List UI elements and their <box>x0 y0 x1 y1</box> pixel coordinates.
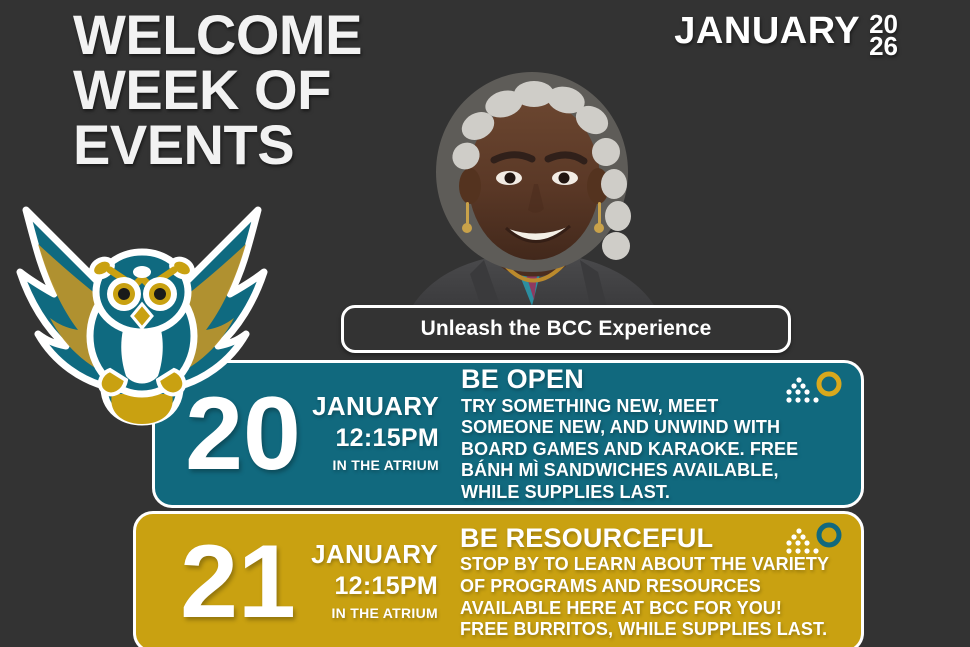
event-day-number: 21 <box>136 514 302 647</box>
event-desc-line: OF PROGRAMS AND RESOURCES <box>460 576 847 598</box>
event-month: JANUARY <box>312 392 439 422</box>
header-year: 20 26 <box>869 12 898 58</box>
header-month: JANUARY <box>674 12 860 50</box>
event-location: IN THE ATRIUM <box>332 455 439 476</box>
bcc-owl-mascot-logo <box>2 186 282 431</box>
banner-text: Unleash the BCC Experience <box>421 317 712 341</box>
event-desc-line: SOMEONE NEW, AND UNWIND WITH <box>461 417 847 439</box>
event-location: IN THE ATRIUM <box>331 603 438 624</box>
event-time: 12:15PM <box>335 422 439 456</box>
poster-canvas: WELCOME WEEK OF EVENTS JANUARY 20 26 <box>0 0 970 647</box>
headline-line-3: EVENTS <box>73 118 362 173</box>
ring-dots-motif-icon <box>785 522 847 562</box>
event-when-block: JANUARY 12:15PM IN THE ATRIUM <box>302 514 448 647</box>
headline-line-2: WEEK OF <box>73 63 362 118</box>
event-desc-line: WHILE SUPPLIES LAST. <box>461 482 847 504</box>
event-when-block: JANUARY 12:15PM IN THE ATRIUM <box>303 363 449 505</box>
banner-unleash-bcc-experience: Unleash the BCC Experience <box>341 305 791 353</box>
event-time: 12:15PM <box>334 570 438 604</box>
event-desc-line: BÁNH MÌ SANDWICHES AVAILABLE, <box>461 460 847 482</box>
event-card-be-resourceful[interactable]: 21 JANUARY 12:15PM IN THE ATRIUM BE RESO… <box>133 511 864 647</box>
headline-line-1: WELCOME <box>73 8 362 63</box>
event-desc-line: FREE BURRITOS, WHILE SUPPLIES LAST. <box>460 619 847 641</box>
event-body: BE OPEN TRY SOMETHING NEW, MEET SOMEONE … <box>449 363 861 505</box>
year-bottom: 26 <box>869 35 898 57</box>
date-header: JANUARY 20 26 <box>674 12 898 58</box>
ring-dots-motif-icon <box>785 371 847 411</box>
page-title: WELCOME WEEK OF EVENTS <box>73 8 362 173</box>
event-desc-line: BOARD GAMES AND KARAOKE. FREE <box>461 439 847 461</box>
event-desc-line: AVAILABLE HERE AT BCC FOR YOU! <box>460 598 847 620</box>
event-month: JANUARY <box>311 540 438 570</box>
event-body: BE RESOURCEFUL STOP BY TO LEARN ABOUT TH… <box>448 514 861 647</box>
